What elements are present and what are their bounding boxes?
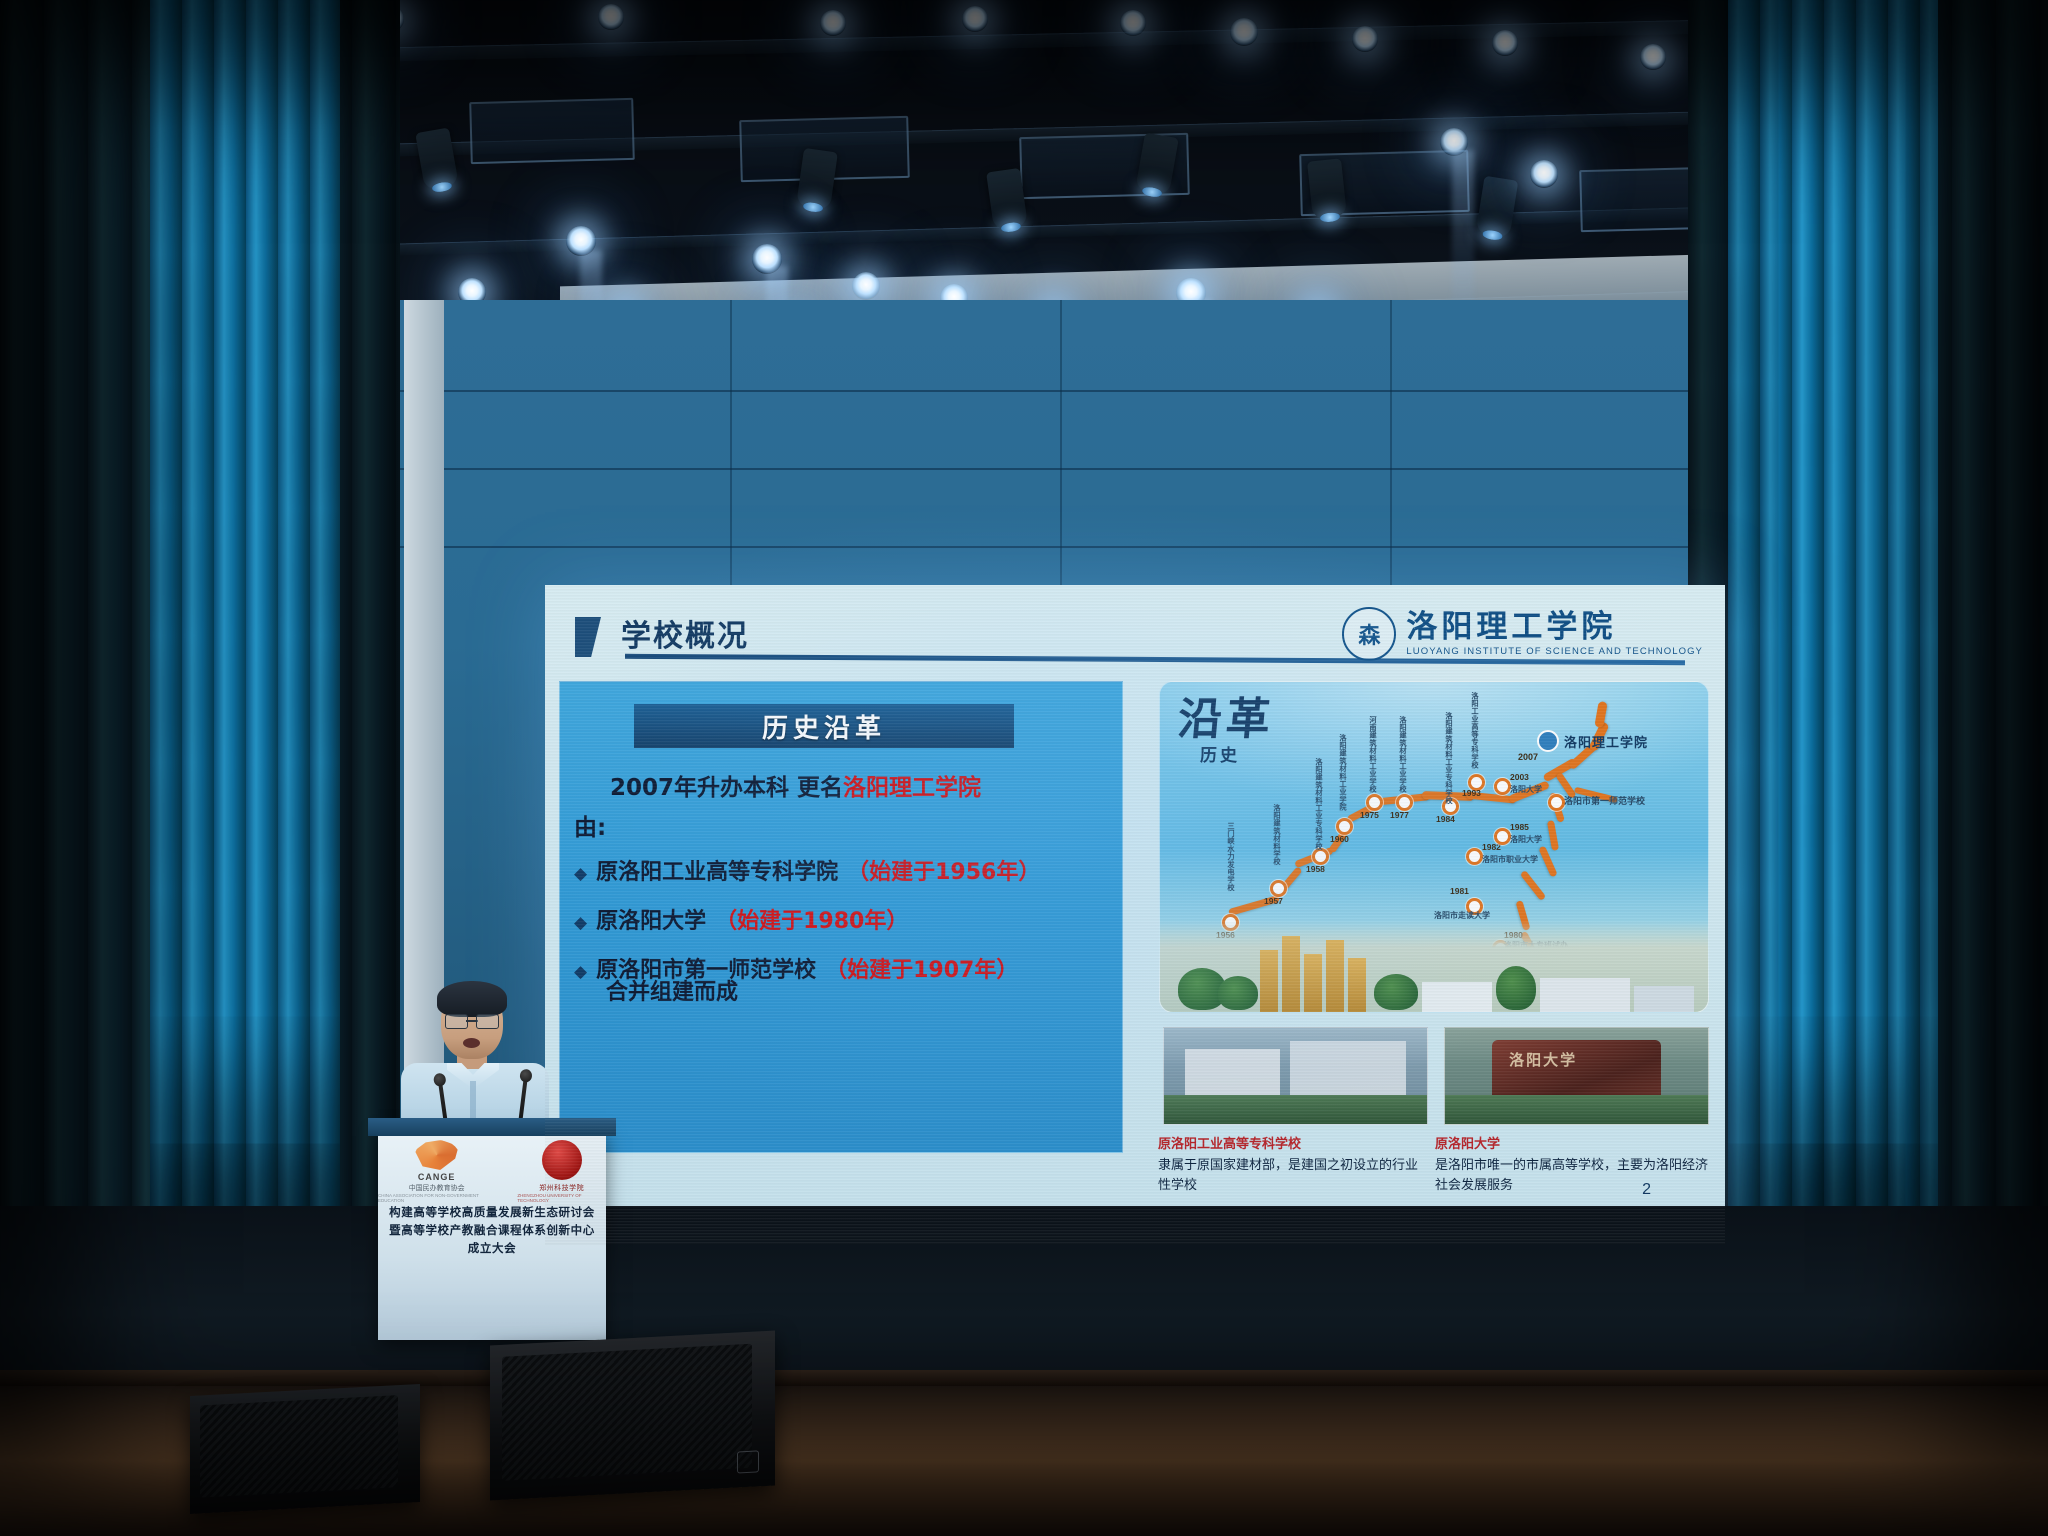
stage-light xyxy=(598,4,624,30)
caption-body: 隶属于原国家建材部，是建国之初设立的行业性学校 xyxy=(1158,1156,1428,1196)
stage-light xyxy=(1120,10,1146,36)
university-partner-logo: 郑州科技学院 ZHENGZHOU UNIVERSITY OF TECHNOLOG… xyxy=(517,1140,606,1203)
list-item-text: 原洛阳大学 xyxy=(596,903,706,935)
glasses-icon xyxy=(445,1014,499,1027)
caption-title: 原洛阳工业高等专科学校 xyxy=(1158,1133,1428,1152)
map-calligraphy: 沿革 历史 xyxy=(1178,698,1274,765)
node-label: 洛阳建筑材料工业学校 xyxy=(1398,716,1408,790)
list-item: ◆ 原洛阳大学 （始建于1980年） xyxy=(574,903,1114,935)
speaker-hair xyxy=(437,981,507,1017)
university-seal-icon: 森 xyxy=(1342,607,1396,661)
stage-curtain-right-lit xyxy=(1728,0,1938,1290)
cange-acronym: CANGE xyxy=(418,1172,456,1182)
cange-mark-icon xyxy=(415,1140,459,1170)
podium-top xyxy=(368,1118,616,1136)
stage-light xyxy=(1352,26,1378,52)
cange-name-en: CHINA ASSOCIATION FOR NON-GOVERNMENT EDU… xyxy=(378,1193,495,1203)
node-label: 洛阳市职业大学 xyxy=(1482,854,1538,865)
podium-sign-line: 暨高等学校产教融合课程体系创新中心 xyxy=(378,1222,606,1240)
floor-monitor-left xyxy=(190,1384,420,1514)
node-year: 1958 xyxy=(1306,864,1325,874)
stage-light xyxy=(1492,30,1518,56)
node-year: 1977 xyxy=(1390,810,1409,820)
slide-header: 学校概况 森 洛阳理工学院 LUOYANG INSTITUTE OF SCIEN… xyxy=(545,599,1725,671)
tree-icon xyxy=(1496,966,1536,1010)
map-endpoint: 洛阳理工学院 xyxy=(1537,730,1648,752)
tree-icon xyxy=(1218,976,1258,1010)
partner-name-en: ZHENGZHOU UNIVERSITY OF TECHNOLOGY xyxy=(517,1193,606,1203)
stage-light xyxy=(852,272,880,300)
podium-sign-line: 构建高等学校高质量发展新生态研讨会 xyxy=(378,1204,606,1222)
section-banner-label: 历史沿革 xyxy=(762,708,886,745)
cange-name-cn: 中国民办教育协会 xyxy=(409,1183,465,1193)
by-label: 由: xyxy=(574,808,606,842)
rig-panel xyxy=(469,98,635,164)
page-title: 学校概况 xyxy=(621,611,749,655)
node-label: 河南建筑材料工业学校 xyxy=(1368,716,1378,790)
node-year: 1957 xyxy=(1264,896,1283,906)
moving-head-light xyxy=(796,148,838,210)
node-label: 洛阳市第一师范学校 xyxy=(1564,794,1645,807)
node-label: 洛阳大学 xyxy=(1510,834,1542,845)
moving-head-light xyxy=(1476,176,1519,239)
podium-sign-line: 成立大会 xyxy=(378,1240,606,1258)
node-label: 洛阳建筑材料工业学院 xyxy=(1338,734,1348,814)
monitor-badge-icon xyxy=(737,1450,759,1473)
led-presentation-screen: 学校概况 森 洛阳理工学院 LUOYANG INSTITUTE OF SCIEN… xyxy=(545,585,1725,1245)
stage-scene: 学校概况 森 洛阳理工学院 LUOYANG INSTITUTE OF SCIEN… xyxy=(0,0,2048,1536)
podium-sign: 构建高等学校高质量发展新生态研讨会 暨高等学校产教融合课程体系创新中心 成立大会 xyxy=(378,1204,606,1257)
caption-right: 原洛阳大学 是洛阳市唯一的市属高等学校，主要为洛阳经济社会发展服务 xyxy=(1435,1133,1715,1196)
node-year: 1960 xyxy=(1330,834,1349,844)
node-label: 洛阳大学 xyxy=(1510,784,1542,795)
tree-icon xyxy=(1374,974,1418,1010)
node-label: 三门峡水力发电学校 xyxy=(1226,822,1236,908)
node-year: 1993 xyxy=(1462,788,1481,798)
section-banner: 历史沿革 xyxy=(634,704,1014,748)
node-year: 1981 xyxy=(1450,886,1469,896)
lead-plain: 2007年升办本科 更名 xyxy=(610,775,843,801)
node-year: 1985 xyxy=(1510,822,1529,832)
lead-highlight: 洛阳理工学院 xyxy=(843,775,981,801)
photo-former-luoyang-university: 洛阳大学 xyxy=(1444,1027,1709,1125)
moving-head-light xyxy=(1307,158,1347,219)
node-year: 1984 xyxy=(1436,814,1455,824)
monitor-grill xyxy=(200,1395,398,1497)
endpoint-label: 洛阳理工学院 xyxy=(1564,732,1648,751)
partner-mark-icon xyxy=(542,1140,582,1180)
stage-light xyxy=(1530,160,1558,188)
partner-name-cn: 郑州科技学院 xyxy=(539,1183,584,1193)
cange-logo: CANGE 中国民办教育协会 CHINA ASSOCIATION FOR NON… xyxy=(378,1140,495,1203)
list-item-text: 原洛阳工业高等专科学院 xyxy=(596,854,838,886)
stage-light xyxy=(1640,44,1666,70)
podium: CANGE 中国民办教育协会 CHINA ASSOCIATION FOR NON… xyxy=(378,1130,606,1340)
stage-light xyxy=(1230,18,1258,46)
floor-monitor-right xyxy=(490,1331,775,1501)
calligraphy-sub: 历史 xyxy=(1200,748,1274,765)
history-timeline-map: 沿革 历史 xyxy=(1159,681,1709,1013)
university-name-cn: 洛阳理工学院 xyxy=(1406,612,1703,643)
node-year: 2003 xyxy=(1510,772,1529,782)
diamond-bullet-icon: ◆ xyxy=(574,913,587,933)
history-content-box: 历史沿革 2007年升办本科 更名洛阳理工学院 由: ◆ 原洛阳工业高等专科学院… xyxy=(559,681,1123,1153)
node-year: 1975 xyxy=(1360,810,1379,820)
diamond-bullet-icon: ◆ xyxy=(574,864,587,884)
photo-former-polytechnic xyxy=(1163,1027,1428,1125)
node-label: 洛阳建筑材料学校 xyxy=(1272,804,1282,876)
stage-light xyxy=(962,6,988,32)
podium-logos: CANGE 中国民办教育协会 CHINA ASSOCIATION FOR NON… xyxy=(378,1140,606,1203)
list-item: ◆ 原洛阳工业高等专科学院 （始建于1956年） xyxy=(574,854,1114,886)
university-name-en: LUOYANG INSTITUTE OF SCIENCE AND TECHNOL… xyxy=(1406,646,1703,657)
caption-body: 是洛阳市唯一的市属高等学校，主要为洛阳经济社会发展服务 xyxy=(1435,1156,1715,1196)
stone-inscription: 洛阳大学 xyxy=(1509,1049,1577,1070)
calligraphy-main: 沿革 xyxy=(1176,698,1276,742)
lead-line: 2007年升办本科 更名洛阳理工学院 xyxy=(610,768,981,802)
speaker-mouth xyxy=(463,1038,480,1048)
slide-content: 学校概况 森 洛阳理工学院 LUOYANG INSTITUTE OF SCIEN… xyxy=(545,585,1725,1245)
stage-floor xyxy=(0,1206,2048,1386)
list-item-note: （始建于1956年） xyxy=(847,854,1040,886)
slide-page-number: 2 xyxy=(1642,1181,1651,1199)
node-label: 洛阳建筑材料工业专科学校 xyxy=(1314,758,1324,844)
diamond-bullet-icon: ◆ xyxy=(574,962,587,982)
node-label: 洛阳建筑材料工业专科学校 xyxy=(1444,712,1454,794)
caption-left: 原洛阳工业高等专科学校 隶属于原国家建材部，是建国之初设立的行业性学校 xyxy=(1158,1133,1428,1196)
stage-curtain-left-lit xyxy=(150,0,340,1290)
endpoint-year: 2007 xyxy=(1518,752,1538,762)
stage-light xyxy=(820,10,846,36)
node-label: 洛阳工业高等专科学校 xyxy=(1470,692,1480,770)
header-accent-icon xyxy=(575,617,601,657)
moving-head-light xyxy=(415,127,459,190)
list-item-note: （始建于1980年） xyxy=(715,903,908,935)
stage-apron-edge xyxy=(0,1370,2048,1386)
monitor-grill xyxy=(502,1344,752,1481)
caption-title: 原洛阳大学 xyxy=(1435,1133,1715,1152)
tail-line: 合并组建而成 xyxy=(606,974,738,1006)
endpoint-icon xyxy=(1537,730,1559,752)
list-item-note: （始建于1907年） xyxy=(825,952,1018,984)
university-logo: 森 洛阳理工学院 LUOYANG INSTITUTE OF SCIENCE AN… xyxy=(1342,607,1703,661)
